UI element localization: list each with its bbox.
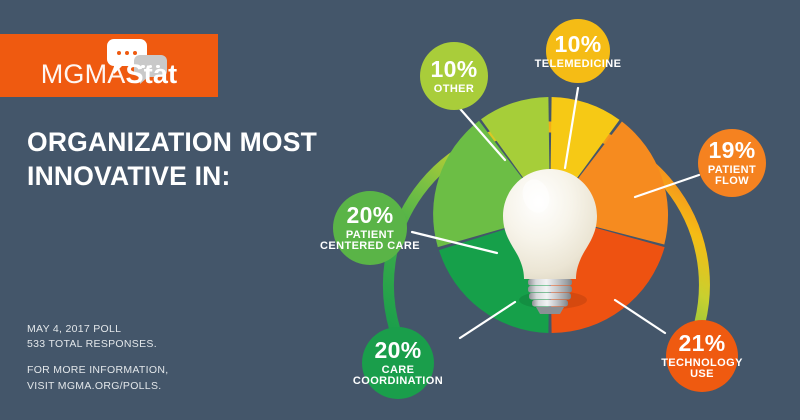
badge-patient-flow[interactable]: 19% PATIENTFLOW — [698, 129, 766, 197]
badge-percent: 21% — [679, 332, 726, 355]
badge-patient-centered-care[interactable]: 20% PATIENTCENTERED CARE — [333, 191, 407, 265]
poll-responses: 533 TOTAL RESPONSES. — [27, 337, 277, 352]
leader-technology-use — [615, 300, 665, 333]
badge-label: PATIENTFLOW — [708, 165, 756, 187]
badge-other[interactable]: 10% OTHER — [420, 42, 488, 110]
badge-label: CARECOORDINATION — [353, 365, 443, 387]
poll-date: MAY 4, 2017 POLL — [27, 322, 277, 337]
mgma-stat-logo: MGMAStat — [0, 34, 218, 97]
badge-technology-use[interactable]: 21% TECHNOLOGYUSE — [666, 320, 738, 392]
badge-percent: 20% — [347, 204, 394, 227]
badge-percent: 10% — [555, 33, 602, 56]
badge-label: TELEMEDICINE — [535, 59, 622, 70]
badge-label: TECHNOLOGYUSE — [661, 358, 743, 380]
more-info-line: FOR MORE INFORMATION, — [27, 363, 277, 378]
poll-meta: MAY 4, 2017 POLL 533 TOTAL RESPONSES. — [27, 322, 277, 352]
more-info: FOR MORE INFORMATION, VISIT MGMA.ORG/POL… — [27, 363, 277, 393]
badge-percent: 20% — [375, 339, 422, 362]
infographic-canvas: MGMAStat ORGANIZATION MOST INNOVATIVE IN… — [0, 0, 800, 420]
footer-block: MAY 4, 2017 POLL 533 TOTAL RESPONSES. FO… — [27, 322, 277, 394]
badge-label: PATIENTCENTERED CARE — [320, 230, 420, 252]
pie-chart-graphic: 10% OTHER 10% TELEMEDICINE 19% PATIENTFL… — [300, 0, 800, 420]
logo-text-mgma: MGMA — [41, 59, 126, 89]
logo-text-stat: Stat — [125, 59, 177, 89]
badge-label: OTHER — [434, 84, 475, 95]
badge-care-coordination[interactable]: 20% CARECOORDINATION — [362, 327, 434, 399]
badge-telemedicine[interactable]: 10% TELEMEDICINE — [546, 19, 610, 83]
badge-percent: 19% — [709, 139, 756, 162]
badge-percent: 10% — [431, 58, 478, 81]
poll-url: VISIT MGMA.ORG/POLLS. — [27, 379, 277, 394]
bubble-dots — [107, 51, 147, 55]
logo-wordmark: MGMAStat — [0, 61, 218, 88]
